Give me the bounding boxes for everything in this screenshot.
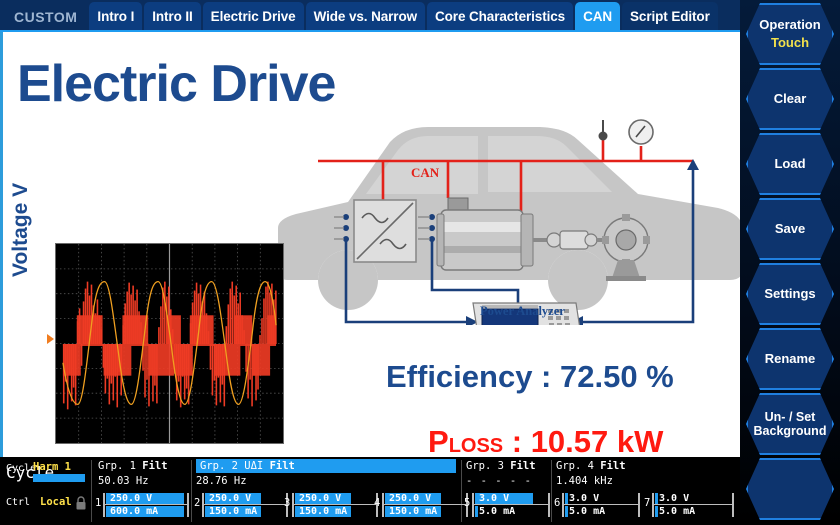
scope-trigger-marker-icon [47, 334, 54, 344]
ploss-p: P [428, 424, 449, 457]
can-bus-label: CAN [411, 165, 439, 181]
group-4-frequency: 1.404 kHz [556, 475, 613, 487]
group-3-frequency: - - - - - [466, 475, 532, 487]
cycle-label-text: Cycle [6, 463, 36, 474]
channel-2-number: 2 [194, 497, 200, 509]
range-midline [294, 504, 376, 505]
channel-3-voltage: 250.0 V [295, 493, 341, 504]
efficiency-readout: Efficiency : 72.50 % [386, 359, 674, 395]
application-window: CUSTOM Intro I Intro II Electric Drive W… [0, 0, 840, 525]
custom-label: CUSTOM [0, 9, 89, 32]
group-3-name: Grp. 3 [466, 460, 504, 472]
tab-intro-2[interactable]: Intro II [144, 2, 200, 32]
group-1-filt: Filt [142, 460, 167, 472]
tab-electric-drive[interactable]: Electric Drive [203, 2, 304, 32]
page-title: Electric Drive [17, 54, 335, 114]
tab-core-characteristics[interactable]: Core Characteristics [427, 2, 573, 32]
softkey-empty[interactable] [746, 458, 834, 520]
drivetrain-diagram [278, 110, 740, 325]
range-bracket-right [187, 493, 189, 517]
tab-script-editor[interactable]: Script Editor [622, 2, 718, 32]
softkey-value: Touch [771, 36, 809, 51]
range-bracket-left [292, 493, 294, 517]
channel-4-current-row: 150.0 mA [385, 506, 463, 517]
channel-6-current-row: 5.0 mA [565, 506, 643, 517]
tab-wide-vs-narrow[interactable]: Wide vs. Narrow [306, 2, 425, 32]
group-3-header[interactable]: Grp. 3 Filt [466, 460, 536, 472]
channel-3-voltage-row: 250.0 V [295, 493, 373, 504]
channel-2-ranges[interactable]: 250.0 V 150.0 mA [202, 493, 288, 517]
status-bar: Cycle Cycle Harm 1 Ctrl Local Grp. 1 Fil… [0, 457, 740, 525]
inverter-icon [334, 200, 435, 262]
group-4-filt: Filt [600, 460, 625, 472]
sensor-icon [599, 120, 608, 141]
softkey-clear[interactable]: Clear [746, 68, 834, 130]
softkey-load[interactable]: Load [746, 133, 834, 195]
channel-2-voltage-row: 250.0 V [205, 493, 283, 504]
channel-1-number: 1 [95, 497, 101, 509]
range-bracket-left [202, 493, 204, 517]
channel-5-current: 5.0 mA [475, 506, 515, 517]
channel-2-voltage: 250.0 V [205, 493, 251, 504]
channel-6-voltage-row: 3.0 V [565, 493, 643, 504]
group-3-filt: Filt [510, 460, 535, 472]
channel-2-current: 150.0 mA [205, 506, 257, 517]
channel-4-voltage: 250.0 V [385, 493, 431, 504]
group-2-frequency: 28.76 Hz [196, 475, 247, 487]
softkey-label: Clear [774, 92, 807, 107]
tab-bar: CUSTOM Intro I Intro II Electric Drive W… [0, 0, 740, 32]
channel-4-ranges[interactable]: 250.0 V 150.0 mA [382, 493, 468, 517]
channel-6-number: 6 [554, 497, 560, 509]
softkey-settings[interactable]: Settings [746, 263, 834, 325]
power-loss-readout: PLOSS : 10.57 kW [428, 424, 663, 457]
group-4-name: Grp. 4 [556, 460, 594, 472]
content-area: Electric Drive [0, 32, 740, 457]
softkey-label-line2: Background [754, 424, 827, 438]
softkey-label: Settings [764, 287, 815, 302]
range-midline [384, 504, 466, 505]
softkey-label: Load [774, 157, 805, 172]
ploss-value: : 10.57 kW [503, 424, 663, 457]
scope-y-axis-label: Voltage V [9, 183, 33, 277]
channel-6-voltage: 3.0 V [565, 493, 599, 504]
coupling-icon [547, 231, 608, 249]
tab-intro-1[interactable]: Intro I [89, 2, 142, 32]
channel-7-number: 7 [644, 497, 650, 509]
channel-5-voltage-row: 3.0 V [475, 493, 553, 504]
channel-5-voltage: 3.0 V [475, 493, 509, 504]
range-midline [654, 504, 732, 505]
softkey-unset-background[interactable]: Un- / Set Background [746, 393, 834, 455]
channel-3-number: 3 [284, 497, 290, 509]
group-1-frequency: 50.03 Hz [98, 475, 149, 487]
channel-1-ranges[interactable]: 250.0 V 600.0 mA [103, 493, 189, 517]
channel-7-voltage: 3.0 V [655, 493, 689, 504]
group-2-mode: UΔI [244, 460, 263, 472]
cycle-bar [33, 474, 85, 482]
range-bracket-left [562, 493, 564, 517]
softkey-panel: Operation Touch Clear Load Save Settings… [740, 0, 840, 525]
group-2-name: Grp. 2 [200, 460, 238, 472]
range-midline [204, 504, 286, 505]
channel-4-voltage-row: 250.0 V [385, 493, 463, 504]
range-bracket-left [652, 493, 654, 517]
ploss-subscript: LOSS [449, 435, 503, 457]
channel-5-number: 5 [464, 497, 470, 509]
motor-icon [437, 198, 550, 270]
vfd-waveform-plot [55, 243, 284, 444]
channel-1-current-row: 600.0 mA [106, 506, 184, 517]
group-4-header[interactable]: Grp. 4 Filt [556, 460, 626, 472]
channel-7-current-row: 5.0 mA [655, 506, 733, 517]
channel-4-number: 4 [374, 497, 380, 509]
channel-6-ranges[interactable]: 3.0 V 5.0 mA [562, 493, 640, 517]
channel-7-current: 5.0 mA [655, 506, 695, 517]
channel-1-voltage-row: 250.0 V [106, 493, 184, 504]
cycle-value[interactable]: Harm 1 [33, 461, 71, 473]
gauge-icon [629, 120, 653, 144]
channel-5-current-row: 5.0 mA [475, 506, 553, 517]
status-separator [191, 460, 192, 522]
channel-3-current-row: 150.0 mA [295, 506, 373, 517]
tab-can[interactable]: CAN [575, 2, 620, 32]
group-2-header[interactable]: Grp. 2 UΔI Filt [196, 459, 456, 473]
channel-6-current: 5.0 mA [565, 506, 605, 517]
channel-1-voltage: 250.0 V [106, 493, 152, 504]
channel-7-ranges[interactable]: 3.0 V 5.0 mA [652, 493, 734, 517]
softkey-save[interactable]: Save [746, 198, 834, 260]
softkey-rename[interactable]: Rename [746, 328, 834, 390]
channel-7-voltage-row: 3.0 V [655, 493, 733, 504]
group-1-name: Grp. 1 [98, 460, 136, 472]
channel-5-ranges[interactable]: 3.0 V 5.0 mA [472, 493, 550, 517]
softkey-operation-touch[interactable]: Operation Touch [746, 3, 834, 65]
softkey-label: Rename [765, 352, 816, 367]
range-bracket-left [382, 493, 384, 517]
lock-icon [75, 495, 87, 514]
softkey-label: Save [775, 222, 805, 237]
channel-3-current: 150.0 mA [295, 506, 347, 517]
range-midline [474, 504, 548, 505]
channel-3-ranges[interactable]: 250.0 V 150.0 mA [292, 493, 378, 517]
softkey-label-line1: Un- / Set [765, 410, 816, 424]
channel-1-current: 600.0 mA [106, 506, 158, 517]
softkey-label: Operation [759, 18, 820, 33]
channel-4-current: 150.0 mA [385, 506, 437, 517]
dynamometer-icon [602, 214, 650, 281]
range-bracket-left [103, 493, 105, 517]
range-midline [105, 504, 187, 505]
channel-2-current-row: 150.0 mA [205, 506, 283, 517]
ctrl-value[interactable]: Local [40, 496, 72, 508]
range-midline [564, 504, 638, 505]
group-2-filt: Filt [270, 460, 295, 472]
ctrl-label: Ctrl [6, 497, 30, 508]
range-bracket-left [472, 493, 474, 517]
status-separator [91, 460, 92, 522]
group-1-header[interactable]: Grp. 1 Filt [98, 460, 168, 472]
power-analyzer-label: Power Analyzer [480, 304, 565, 319]
